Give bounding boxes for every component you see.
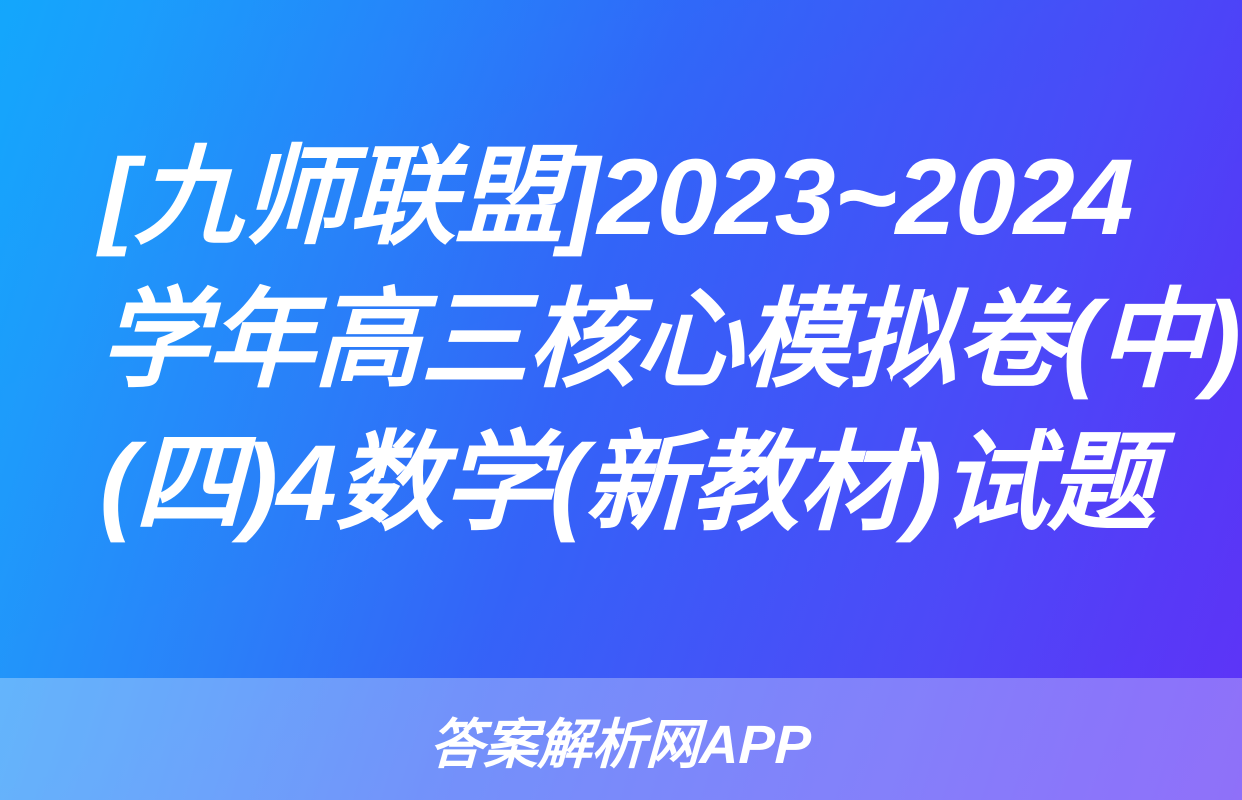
- footer-watermark-band: 答案解析网APP: [0, 678, 1242, 800]
- title-line-2: 学年高三核心模拟卷(中): [99, 268, 1242, 411]
- app-watermark-label: 答案解析网APP: [429, 700, 813, 779]
- title-line-3: (四)4数学(新教材)试题: [99, 411, 1242, 554]
- poster-canvas: [九师联盟]2023~2024 学年高三核心模拟卷(中) (四)4数学(新教材)…: [0, 0, 1242, 800]
- title-line-1: [九师联盟]2023~2024: [99, 125, 1242, 268]
- title-block: [九师联盟]2023~2024 学年高三核心模拟卷(中) (四)4数学(新教材)…: [0, 0, 1242, 678]
